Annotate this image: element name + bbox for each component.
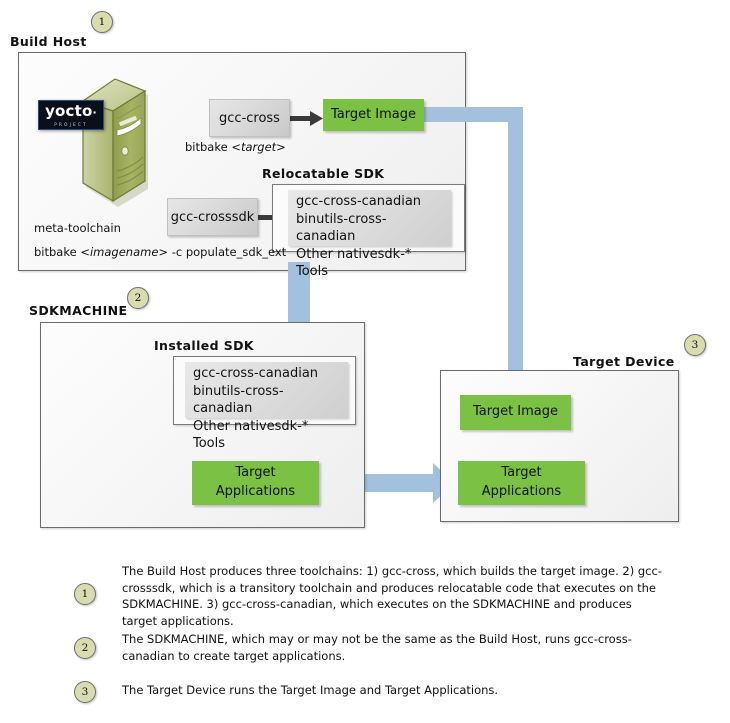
installed-sdk-contents: gcc-cross-canadian binutils-cross-canadi…: [185, 362, 348, 418]
legend-badge-2: 2: [74, 637, 96, 659]
gcc-cross-box[interactable]: gcc-cross: [209, 99, 290, 137]
yocto-logo-dot: ·: [93, 106, 97, 119]
yocto-logo-word: yocto: [45, 102, 92, 120]
sdkmachine-title: SDKMACHINE: [29, 303, 127, 318]
legend-badge-3: 3: [74, 681, 96, 703]
sdkmachine-badge: 2: [127, 287, 149, 309]
yocto-logo-sub: PROJECT: [54, 122, 88, 127]
build-host-title: Build Host: [10, 34, 87, 49]
target-device-title: Target Device: [573, 354, 675, 369]
target-device-target-applications-box[interactable]: Target Applications: [458, 461, 585, 505]
yocto-project-logo: yocto· PROJECT: [38, 100, 104, 130]
legend-badge-1: 1: [74, 583, 96, 605]
installed-sdk-title: Installed SDK: [154, 338, 254, 353]
relocatable-sdk-title: Relocatable SDK: [262, 166, 384, 181]
relocatable-sdk-contents: gcc-cross-canadian binutils-cross-canadi…: [288, 190, 451, 246]
bitbake-target-caption: bitbake <target>: [185, 140, 286, 154]
legend-text-3: The Target Device runs the Target Image …: [122, 682, 682, 699]
legend-text-2: The SDKMACHINE, which may or may not be …: [122, 631, 682, 664]
build-host-badge: 1: [91, 11, 113, 33]
meta-toolchain-caption: meta-toolchain: [34, 221, 121, 235]
bitbake-populate-sdk-caption: bitbake <imagename> -c populate_sdk_ext: [34, 245, 286, 259]
sdkmachine-target-applications-box[interactable]: Target Applications: [192, 461, 319, 505]
gcc-crosssdk-box[interactable]: gcc-crosssdk: [167, 198, 258, 236]
build-host-target-image-box[interactable]: Target Image: [323, 99, 424, 131]
target-device-target-image-box[interactable]: Target Image: [460, 395, 571, 430]
legend-text-1: The Build Host produces three toolchains…: [122, 563, 667, 629]
target-device-badge: 3: [684, 334, 706, 356]
